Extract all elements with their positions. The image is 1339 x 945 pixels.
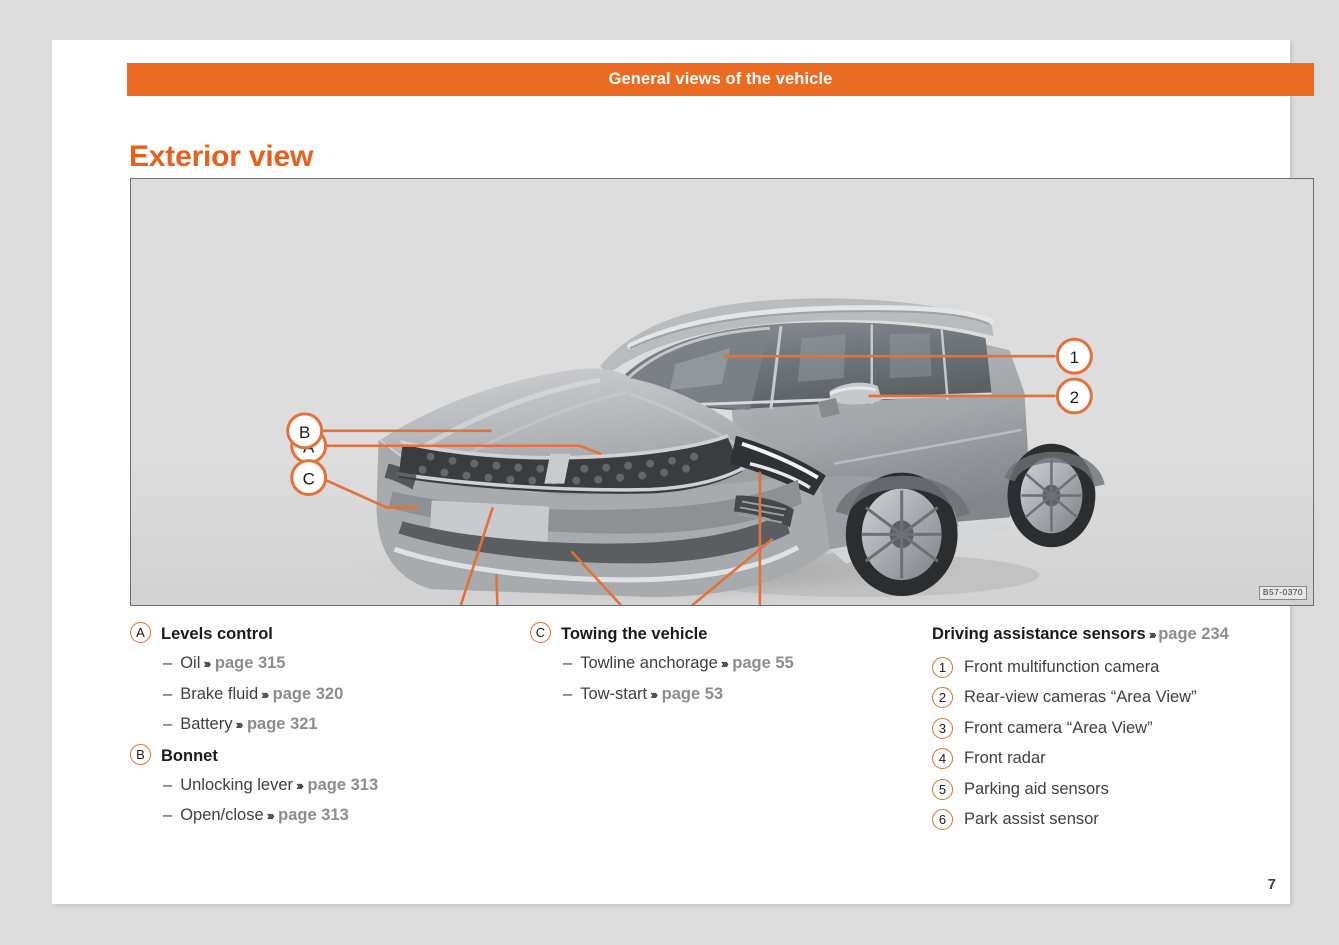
- page-title: Exterior view: [129, 140, 313, 174]
- document-page: General views of the vehicle Exterior vi…: [52, 40, 1290, 904]
- legend-heading-text: Driving assistance sensors›››page 234: [932, 622, 1229, 646]
- list-item-label: Front multifunction camera: [964, 658, 1159, 677]
- running-header-bar: General views of the vehicle: [127, 63, 1314, 96]
- callout-marker-C: C: [292, 461, 326, 495]
- legend-marker-b: B: [130, 744, 151, 765]
- list-item-label: Oil: [180, 652, 200, 674]
- dash-bullet: –: [163, 774, 172, 796]
- list-item-label: Towline anchorage: [580, 652, 718, 674]
- dash-bullet: –: [163, 652, 172, 674]
- page-reference[interactable]: page 234: [1158, 625, 1229, 643]
- legend-heading-text: Towing the vehicle: [561, 622, 707, 645]
- list-item-label: Front camera “Area View”: [964, 719, 1153, 738]
- list-item-label: Unlocking lever: [180, 774, 293, 796]
- list-item[interactable]: 1 Front multifunction camera: [932, 652, 1332, 683]
- legend-marker-a: A: [130, 622, 151, 643]
- legend-column-middle: C Towing the vehicle – Towline anchorage…: [530, 622, 930, 713]
- page-reference[interactable]: page 55: [732, 652, 793, 674]
- list-item-label: Tow-start: [580, 683, 647, 705]
- legend-column-left: A Levels control – Oil ››› page 315 – Br…: [130, 622, 525, 835]
- chevron-ref-icon: ›››: [267, 805, 273, 827]
- dash-bullet: –: [563, 652, 572, 674]
- legend-heading: A Levels control: [130, 622, 525, 652]
- page-reference[interactable]: page 315: [215, 652, 286, 674]
- list-item-label: Rear-view cameras “Area View”: [964, 688, 1197, 707]
- list-item[interactable]: – Unlocking lever ››› page 313: [130, 774, 525, 805]
- chevron-ref-icon: ›››: [203, 653, 209, 675]
- list-item[interactable]: 5 Parking aid sensors: [932, 774, 1332, 805]
- callout-marker-1: 1: [1057, 339, 1091, 373]
- chevron-ref-icon: ›››: [261, 684, 267, 706]
- list-item[interactable]: 2 Rear-view cameras “Area View”: [932, 683, 1332, 714]
- legend-entry-bonnet: B Bonnet – Unlocking lever ››› page 313 …: [130, 744, 525, 835]
- list-item-label: Brake fluid: [180, 683, 258, 705]
- legend-marker-3: 3: [932, 718, 953, 739]
- legend-marker-1: 1: [932, 657, 953, 678]
- legend-marker-c: C: [530, 622, 551, 643]
- legend-heading: Driving assistance sensors›››page 234: [932, 622, 1332, 652]
- list-item[interactable]: 3 Front camera “Area View”: [932, 713, 1332, 744]
- list-item-label: Parking aid sensors: [964, 780, 1109, 799]
- list-item-label: Front radar: [964, 749, 1046, 768]
- legend-heading: B Bonnet: [130, 744, 525, 774]
- chevron-ref-icon: ›››: [650, 684, 656, 706]
- dash-bullet: –: [163, 683, 172, 705]
- page-reference[interactable]: page 53: [662, 683, 723, 705]
- svg-text:1: 1: [1070, 348, 1079, 367]
- callout-marker-B: B: [288, 414, 322, 448]
- running-header-title: General views of the vehicle: [609, 70, 833, 89]
- page-number: 7: [1268, 876, 1276, 893]
- dash-bullet: –: [563, 683, 572, 705]
- list-item-label: Open/close: [180, 804, 263, 826]
- list-item[interactable]: – Open/close ››› page 313: [130, 804, 525, 835]
- list-item[interactable]: – Tow-start ››› page 53: [530, 683, 930, 714]
- legend-entry-levels-control: A Levels control – Oil ››› page 315 – Br…: [130, 622, 525, 744]
- list-item-label: Park assist sensor: [964, 810, 1099, 829]
- svg-text:B: B: [299, 423, 310, 442]
- page-reference[interactable]: page 313: [278, 804, 349, 826]
- figure-callouts: 1 2 A B C: [131, 179, 1313, 605]
- dash-bullet: –: [163, 804, 172, 826]
- page-reference[interactable]: page 321: [247, 713, 318, 735]
- list-item[interactable]: 6 Park assist sensor: [932, 805, 1332, 836]
- list-item[interactable]: – Brake fluid ››› page 320: [130, 683, 525, 714]
- list-item-label: Battery: [180, 713, 232, 735]
- legend-heading-label: Driving assistance sensors: [932, 625, 1146, 643]
- list-item[interactable]: – Oil ››› page 315: [130, 652, 525, 683]
- legend-marker-4: 4: [932, 748, 953, 769]
- chevron-ref-icon: ›››: [721, 653, 727, 675]
- svg-text:C: C: [303, 470, 315, 489]
- legend-entry-towing: C Towing the vehicle – Towline anchorage…: [530, 622, 930, 713]
- chevron-ref-icon: ›››: [1149, 624, 1155, 646]
- legend-marker-5: 5: [932, 779, 953, 800]
- legend-marker-6: 6: [932, 809, 953, 830]
- legend-column-right: Driving assistance sensors›››page 234 1 …: [932, 622, 1332, 835]
- page-reference[interactable]: page 313: [308, 774, 379, 796]
- legend-heading-text: Levels control: [161, 622, 273, 645]
- legend-heading: C Towing the vehicle: [530, 622, 930, 652]
- chevron-ref-icon: ›››: [235, 714, 241, 736]
- dash-bullet: –: [163, 713, 172, 735]
- legend-entry-driving-assistance: Driving assistance sensors›››page 234 1 …: [932, 622, 1332, 835]
- vehicle-exterior-figure: 1 2 A B C: [130, 178, 1314, 606]
- page-reference[interactable]: page 320: [273, 683, 344, 705]
- svg-text:2: 2: [1070, 388, 1079, 407]
- callout-marker-2: 2: [1057, 379, 1091, 413]
- chevron-ref-icon: ›››: [296, 775, 302, 797]
- list-item[interactable]: – Battery ››› page 321: [130, 713, 525, 744]
- legend-marker-2: 2: [932, 687, 953, 708]
- list-item[interactable]: – Towline anchorage ››› page 55: [530, 652, 930, 683]
- legend-heading-text: Bonnet: [161, 744, 218, 767]
- list-item[interactable]: 4 Front radar: [932, 744, 1332, 775]
- figure-code-label: B57-0370: [1259, 586, 1307, 600]
